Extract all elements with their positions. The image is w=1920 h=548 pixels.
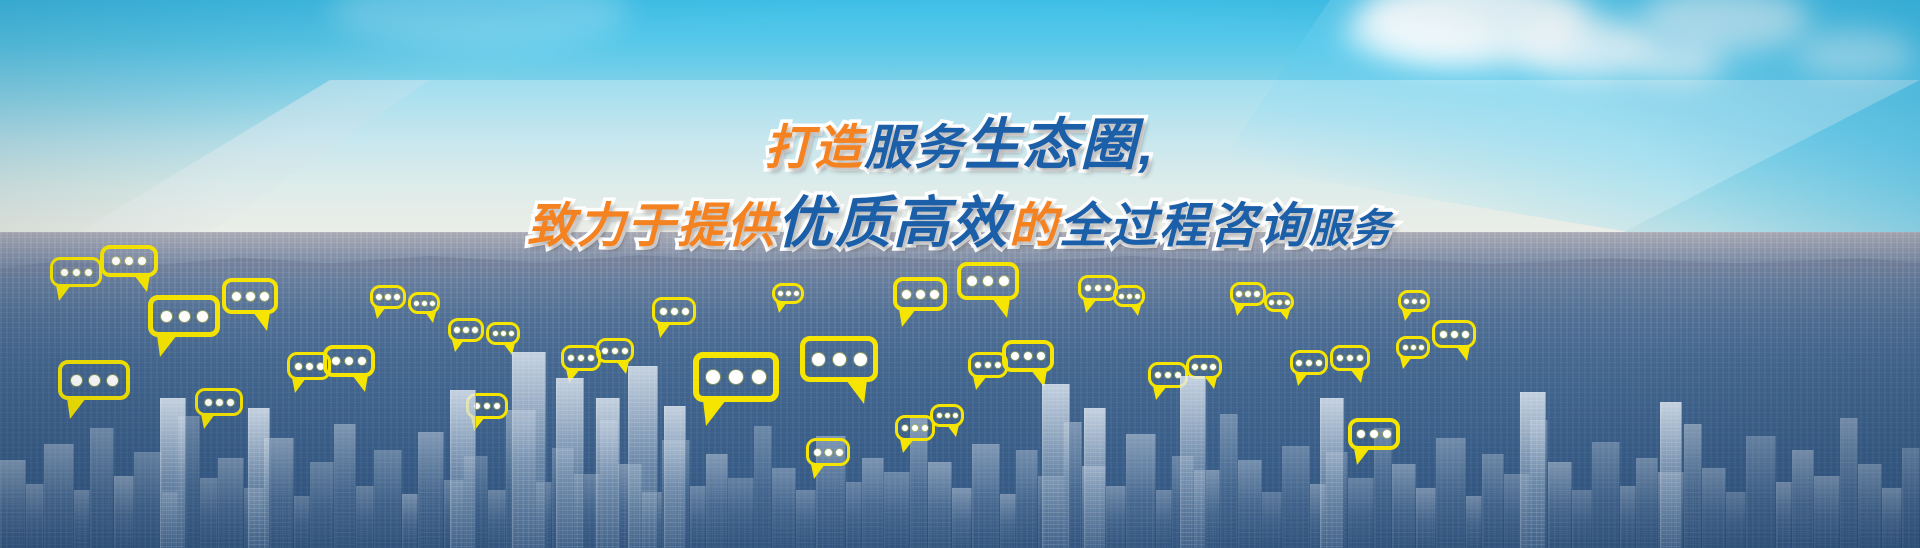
chat-bubble-tail-icon — [1083, 299, 1097, 313]
chat-bubble-dot — [73, 269, 80, 276]
chat-bubble-dot — [854, 353, 867, 366]
chat-bubble-dot — [463, 327, 469, 333]
chat-bubble-body — [448, 318, 484, 342]
cloud-icon — [1340, 6, 1490, 60]
chat-bubble-dot — [1024, 352, 1032, 360]
chat-bubble-body — [1396, 336, 1430, 359]
chat-bubble-tail-icon — [616, 361, 629, 374]
chat-bubble-dot — [179, 311, 190, 322]
chat-bubble-35 — [1348, 418, 1400, 450]
chat-bubble-body — [100, 245, 158, 277]
chat-bubble-dot — [472, 327, 478, 333]
chat-bubble-dot — [125, 257, 133, 265]
chat-bubble-tail-icon — [201, 414, 215, 429]
chat-bubble-6 — [58, 360, 130, 400]
chat-bubble-tail-icon — [1153, 386, 1167, 400]
chat-bubble-dot — [1105, 285, 1111, 291]
chat-bubble-body — [1330, 345, 1370, 371]
tower-building — [628, 366, 658, 548]
chat-bubble-19 — [772, 283, 804, 304]
chat-bubble-dot — [622, 348, 628, 354]
chat-bubble-body — [50, 257, 102, 287]
chat-bubble-body — [1113, 285, 1145, 307]
chat-bubble-dot — [706, 370, 720, 384]
chat-bubble-24 — [1078, 275, 1118, 301]
chat-bubble-tail-icon — [425, 312, 436, 323]
chat-bubble-30 — [1230, 282, 1266, 306]
chat-bubble-body — [1398, 290, 1430, 312]
chat-bubble-dot — [1236, 291, 1242, 297]
chat-bubble-23 — [1002, 340, 1054, 372]
chat-bubble-tail-icon — [992, 298, 1010, 318]
chat-bubble-dot — [1037, 352, 1045, 360]
chat-bubble-tail-icon — [67, 398, 86, 419]
chat-bubble-dot — [1285, 300, 1290, 305]
chat-bubble-dot — [1127, 294, 1132, 299]
cloud-icon — [1795, 30, 1915, 78]
chat-bubble-tail-icon — [1456, 346, 1470, 361]
chat-bubble-dot — [61, 269, 68, 276]
chat-bubble-25 — [1113, 285, 1145, 307]
chat-bubble-8 — [323, 345, 375, 377]
chat-bubble-body — [561, 345, 601, 371]
chat-bubble-dot — [983, 276, 993, 286]
chat-bubble-dot — [916, 290, 925, 299]
chat-bubble-body — [806, 438, 850, 466]
chat-bubble-dot — [833, 353, 846, 366]
chat-bubble-dot — [376, 294, 382, 300]
chat-bubble-body — [486, 322, 520, 345]
chat-bubble-tail-icon — [1130, 305, 1141, 316]
chat-bubble-dot — [246, 292, 255, 301]
chat-bubble-dot — [1462, 331, 1469, 338]
chat-bubble-dot — [945, 413, 950, 418]
chat-bubble-12 — [486, 322, 520, 345]
chat-bubble-dot — [1412, 299, 1417, 304]
chat-bubble-dot — [568, 355, 574, 361]
chat-bubble-17 — [693, 352, 779, 402]
tower-building — [556, 378, 584, 548]
chat-bubble-dot — [1403, 345, 1408, 350]
chat-bubble-tail-icon — [292, 378, 306, 393]
chat-bubble-tail-icon — [452, 340, 464, 352]
chat-bubble-dot — [501, 331, 506, 336]
chat-bubble-dot — [1306, 360, 1312, 366]
chat-bubble-body — [58, 360, 130, 400]
chat-bubble-dot — [232, 292, 241, 301]
chat-bubble-dot — [1383, 430, 1391, 438]
chat-bubble-dot — [682, 308, 689, 315]
chat-bubble-body — [222, 278, 278, 314]
chat-bubble-11 — [448, 318, 484, 342]
chat-bubble-dot — [227, 399, 234, 406]
chat-bubble-tail-icon — [1205, 377, 1217, 389]
chat-bubble-body — [693, 352, 779, 402]
chat-bubble-body — [930, 404, 964, 427]
chat-bubble-tail-icon — [134, 275, 150, 292]
chat-bubble-14 — [561, 345, 601, 371]
chat-bubble-16 — [652, 297, 696, 325]
chat-bubble-dot — [414, 301, 419, 306]
chat-bubble-tail-icon — [947, 425, 959, 437]
chat-bubble-31 — [1264, 292, 1294, 312]
chat-bubble-tail-icon — [846, 380, 867, 404]
chat-bubble-dot — [1451, 331, 1458, 338]
chat-bubble-18 — [800, 336, 878, 382]
chat-bubble-dot — [1419, 345, 1424, 350]
chat-bubble-dot — [602, 348, 608, 354]
chat-bubble-dot — [999, 276, 1009, 286]
chat-bubble-dot — [786, 291, 791, 296]
chat-bubble-dot — [430, 301, 435, 306]
chat-bubble-dot — [509, 331, 514, 336]
chat-bubble-dot — [1095, 285, 1101, 291]
chat-bubble-body — [195, 388, 243, 416]
chat-bubble-dot — [484, 403, 490, 409]
chat-bubble-dot — [454, 327, 460, 333]
chat-bubble-dot — [494, 403, 500, 409]
chat-bubble-33 — [1432, 320, 1476, 348]
chat-bubble-body — [1348, 418, 1400, 450]
chat-bubble-body — [895, 415, 935, 441]
chat-bubble-tail-icon — [1279, 310, 1290, 320]
chat-bubble-dot — [1357, 430, 1365, 438]
chat-bubble-4 — [222, 278, 278, 314]
chat-bubble-dot — [216, 399, 223, 406]
chat-bubble-dot — [930, 290, 939, 299]
chat-bubble-tail-icon — [1354, 448, 1370, 465]
chat-bubble-dot — [89, 375, 100, 386]
chat-bubble-body — [1078, 275, 1118, 301]
chat-bubble-34 — [1396, 336, 1430, 359]
tower-building — [160, 398, 186, 548]
chat-bubble-tail-icon — [973, 376, 987, 390]
tower-building — [450, 390, 476, 548]
chat-bubble-dot — [836, 449, 843, 456]
chat-bubble-tail-icon — [776, 302, 787, 313]
chat-bubble-dot — [1404, 299, 1409, 304]
chat-bubble-body — [1432, 320, 1476, 348]
chat-bubble-body — [370, 285, 406, 309]
chat-bubble-dot — [1347, 355, 1353, 361]
tower-building — [1320, 398, 1344, 548]
tower-building — [512, 352, 546, 548]
chat-bubble-dot — [1316, 360, 1322, 366]
chat-bubble-dot — [578, 355, 584, 361]
chat-bubble-tail-icon — [1402, 310, 1413, 321]
chat-bubble-38 — [806, 438, 850, 466]
chat-bubble-dot — [1296, 360, 1302, 366]
chat-bubble-tail-icon — [157, 335, 177, 357]
chat-bubble-29 — [1330, 345, 1370, 371]
chat-bubble-body — [800, 336, 878, 382]
chat-bubble-1 — [50, 257, 102, 287]
chat-bubble-dot — [394, 294, 400, 300]
chat-bubble-body — [893, 277, 947, 311]
chat-bubble-dot — [1085, 285, 1091, 291]
tower-building — [1660, 402, 1682, 548]
chat-bubble-dot — [967, 276, 977, 286]
chat-bubble-body — [652, 297, 696, 325]
tower-building — [664, 406, 686, 548]
chat-bubble-dot — [1420, 299, 1425, 304]
chat-bubble-tail-icon — [1400, 357, 1412, 369]
chat-bubble-tail-icon — [253, 312, 270, 331]
chat-bubble-dot — [912, 425, 918, 431]
chat-bubble-dot — [752, 370, 766, 384]
chat-bubble-dot — [612, 348, 618, 354]
chat-bubble-tail-icon — [900, 439, 914, 453]
chat-bubble-28 — [1290, 350, 1328, 375]
chat-bubble-dot — [1357, 355, 1363, 361]
chat-bubble-body — [1264, 292, 1294, 312]
chat-bubble-dot — [71, 375, 82, 386]
chat-bubble-dot — [112, 257, 120, 265]
chat-bubble-dot — [1210, 364, 1216, 370]
chat-bubble-tail-icon — [657, 323, 671, 338]
chat-bubble-dot — [1192, 364, 1198, 370]
chat-bubble-32 — [1398, 290, 1430, 312]
chat-bubble-dot — [794, 291, 799, 296]
chat-bubble-tail-icon — [1350, 369, 1364, 383]
chat-bubble-dot — [1411, 345, 1416, 350]
chat-bubble-dot — [825, 449, 832, 456]
chat-bubble-body — [957, 262, 1019, 300]
chat-bubble-dot — [985, 362, 991, 368]
chat-bubble-dot — [588, 355, 594, 361]
chat-bubble-tail-icon — [899, 309, 916, 327]
chat-bubble-dot — [85, 269, 92, 276]
chat-bubble-dot — [778, 291, 783, 296]
chat-bubble-dot — [306, 363, 313, 370]
chat-bubble-body — [408, 292, 440, 314]
chat-bubble-dot — [1337, 355, 1343, 361]
chat-bubble-15 — [596, 338, 634, 363]
chat-bubble-dot — [1135, 294, 1140, 299]
chat-bubble-dot — [345, 357, 353, 365]
chat-bubble-dot — [671, 308, 678, 315]
chat-bubble-dot — [422, 301, 427, 306]
chat-bubble-dot — [385, 294, 391, 300]
chat-bubble-body — [1290, 350, 1328, 375]
chat-bubble-2 — [100, 245, 158, 277]
chat-bubble-dot — [902, 425, 908, 431]
chat-bubble-tail-icon — [352, 375, 368, 392]
chat-bubble-10 — [408, 292, 440, 314]
chat-bubble-body — [148, 295, 220, 337]
chat-bubble-dot — [1155, 372, 1161, 378]
tower-building — [1520, 392, 1546, 548]
tower-building — [1180, 376, 1206, 548]
chat-bubble-3 — [148, 295, 220, 337]
chat-bubble-5 — [195, 388, 243, 416]
chat-bubble-dot — [1254, 291, 1260, 297]
chat-bubble-20 — [893, 277, 947, 311]
hero-banner: 打造服务生态圈, 致力于提供优质高效的全过程咨询服务 — [0, 0, 1920, 548]
chat-bubble-tail-icon — [1295, 373, 1308, 386]
chat-bubble-dot — [814, 449, 821, 456]
chat-bubble-dot — [1440, 331, 1447, 338]
chat-bubble-dot — [358, 357, 366, 365]
chat-bubble-dot — [1119, 294, 1124, 299]
chat-bubble-dot — [161, 311, 172, 322]
chat-bubble-dot — [138, 257, 146, 265]
chat-bubble-dot — [260, 292, 269, 301]
chat-bubble-tail-icon — [811, 464, 825, 479]
chat-bubble-dot — [197, 311, 208, 322]
chat-bubble-dot — [1011, 352, 1019, 360]
chat-bubble-dot — [937, 413, 942, 418]
chat-bubble-dot — [332, 357, 340, 365]
chat-bubble-tail-icon — [56, 285, 71, 301]
chat-bubble-body — [1002, 340, 1054, 372]
chat-bubble-dot — [493, 331, 498, 336]
tower-building — [596, 398, 620, 548]
chat-bubble-body — [1230, 282, 1266, 306]
tower-building — [1084, 408, 1106, 548]
chat-bubble-37 — [930, 404, 964, 427]
chat-bubble-tail-icon — [1234, 304, 1246, 316]
chat-bubble-dot — [995, 362, 1001, 368]
chat-bubble-dot — [660, 308, 667, 315]
chat-bubble-body — [323, 345, 375, 377]
chat-bubble-dot — [1370, 430, 1378, 438]
chat-bubble-body — [772, 283, 804, 304]
chat-bubble-9 — [370, 285, 406, 309]
chat-bubble-dot — [1201, 364, 1207, 370]
chat-bubble-dot — [1277, 300, 1282, 305]
chat-bubble-36 — [895, 415, 935, 441]
tower-building — [1042, 384, 1070, 548]
chat-bubble-dot — [902, 290, 911, 299]
chat-bubble-tail-icon — [374, 307, 386, 319]
chat-bubble-dot — [1269, 300, 1274, 305]
chat-bubble-dot — [729, 370, 743, 384]
chat-bubble-dot — [1165, 372, 1171, 378]
chat-bubble-dot — [107, 375, 118, 386]
chat-bubble-21 — [957, 262, 1019, 300]
chat-bubble-tail-icon — [703, 400, 726, 426]
chat-bubble-dot — [1245, 291, 1251, 297]
chat-bubble-dot — [922, 425, 928, 431]
chat-bubble-body — [596, 338, 634, 363]
chat-bubble-dot — [205, 399, 212, 406]
chat-bubble-dot — [295, 363, 302, 370]
chat-bubble-dot — [812, 353, 825, 366]
tower-building — [248, 408, 270, 548]
chat-bubble-dot — [953, 413, 958, 418]
chat-bubble-dot — [975, 362, 981, 368]
